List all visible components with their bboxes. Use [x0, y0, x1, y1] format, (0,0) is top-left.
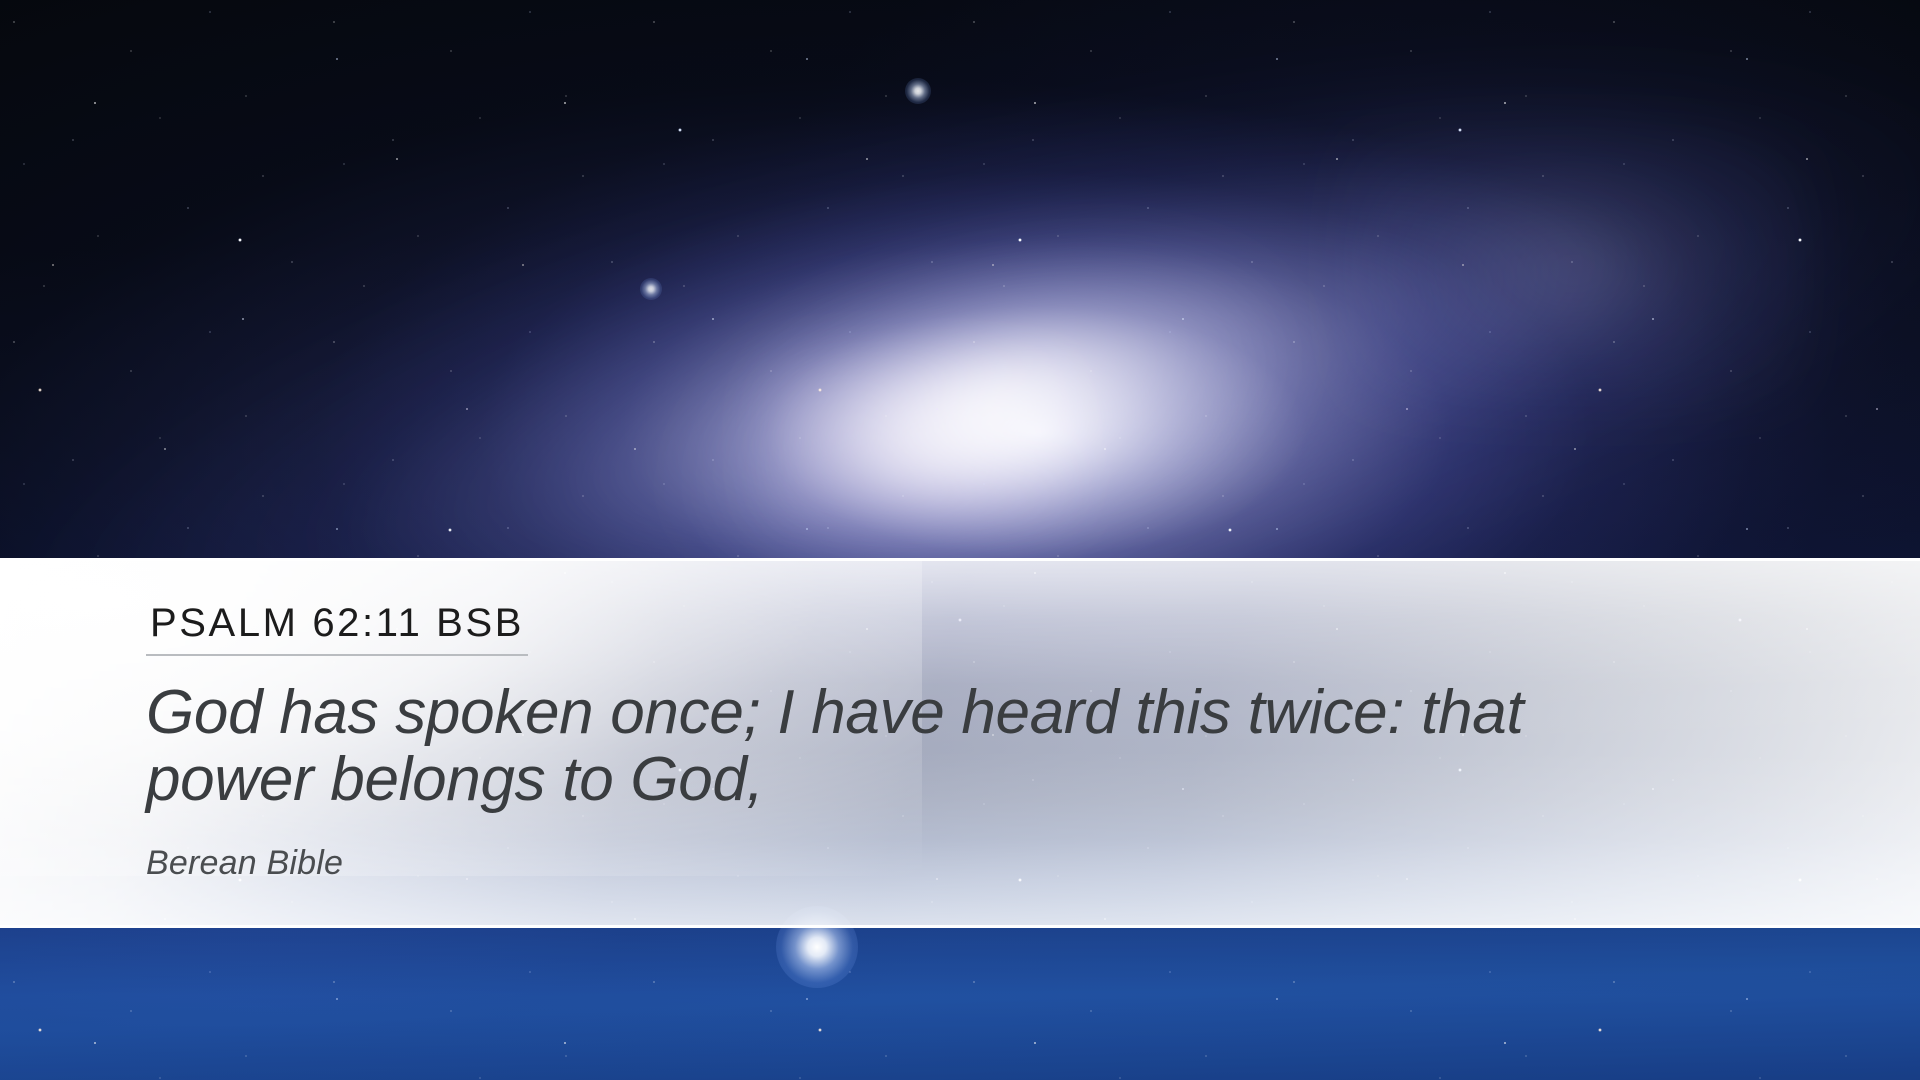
band-top-rule — [0, 558, 1920, 561]
verse-content: PSALM 62:11 BSB God has spoken once; I h… — [146, 602, 1800, 883]
verse-image-card: PSALM 62:11 BSB God has spoken once; I h… — [0, 0, 1920, 1080]
verse-text-line-1: God has spoken once; I have heard this t… — [146, 678, 1523, 747]
verse-text: God has spoken once; I have heard this t… — [146, 680, 1666, 814]
verse-text-line-2: power belongs to God, — [146, 745, 764, 814]
verse-reference: PSALM 62:11 BSB — [146, 602, 528, 656]
nebula-cloud-right — [1344, 130, 1805, 411]
band-bottom-rule — [0, 925, 1920, 928]
verse-source-attribution: Berean Bible — [146, 844, 1800, 883]
galactic-core-pink-haze — [768, 356, 1075, 529]
verse-overlay-band: PSALM 62:11 BSB God has spoken once; I h… — [0, 558, 1920, 928]
